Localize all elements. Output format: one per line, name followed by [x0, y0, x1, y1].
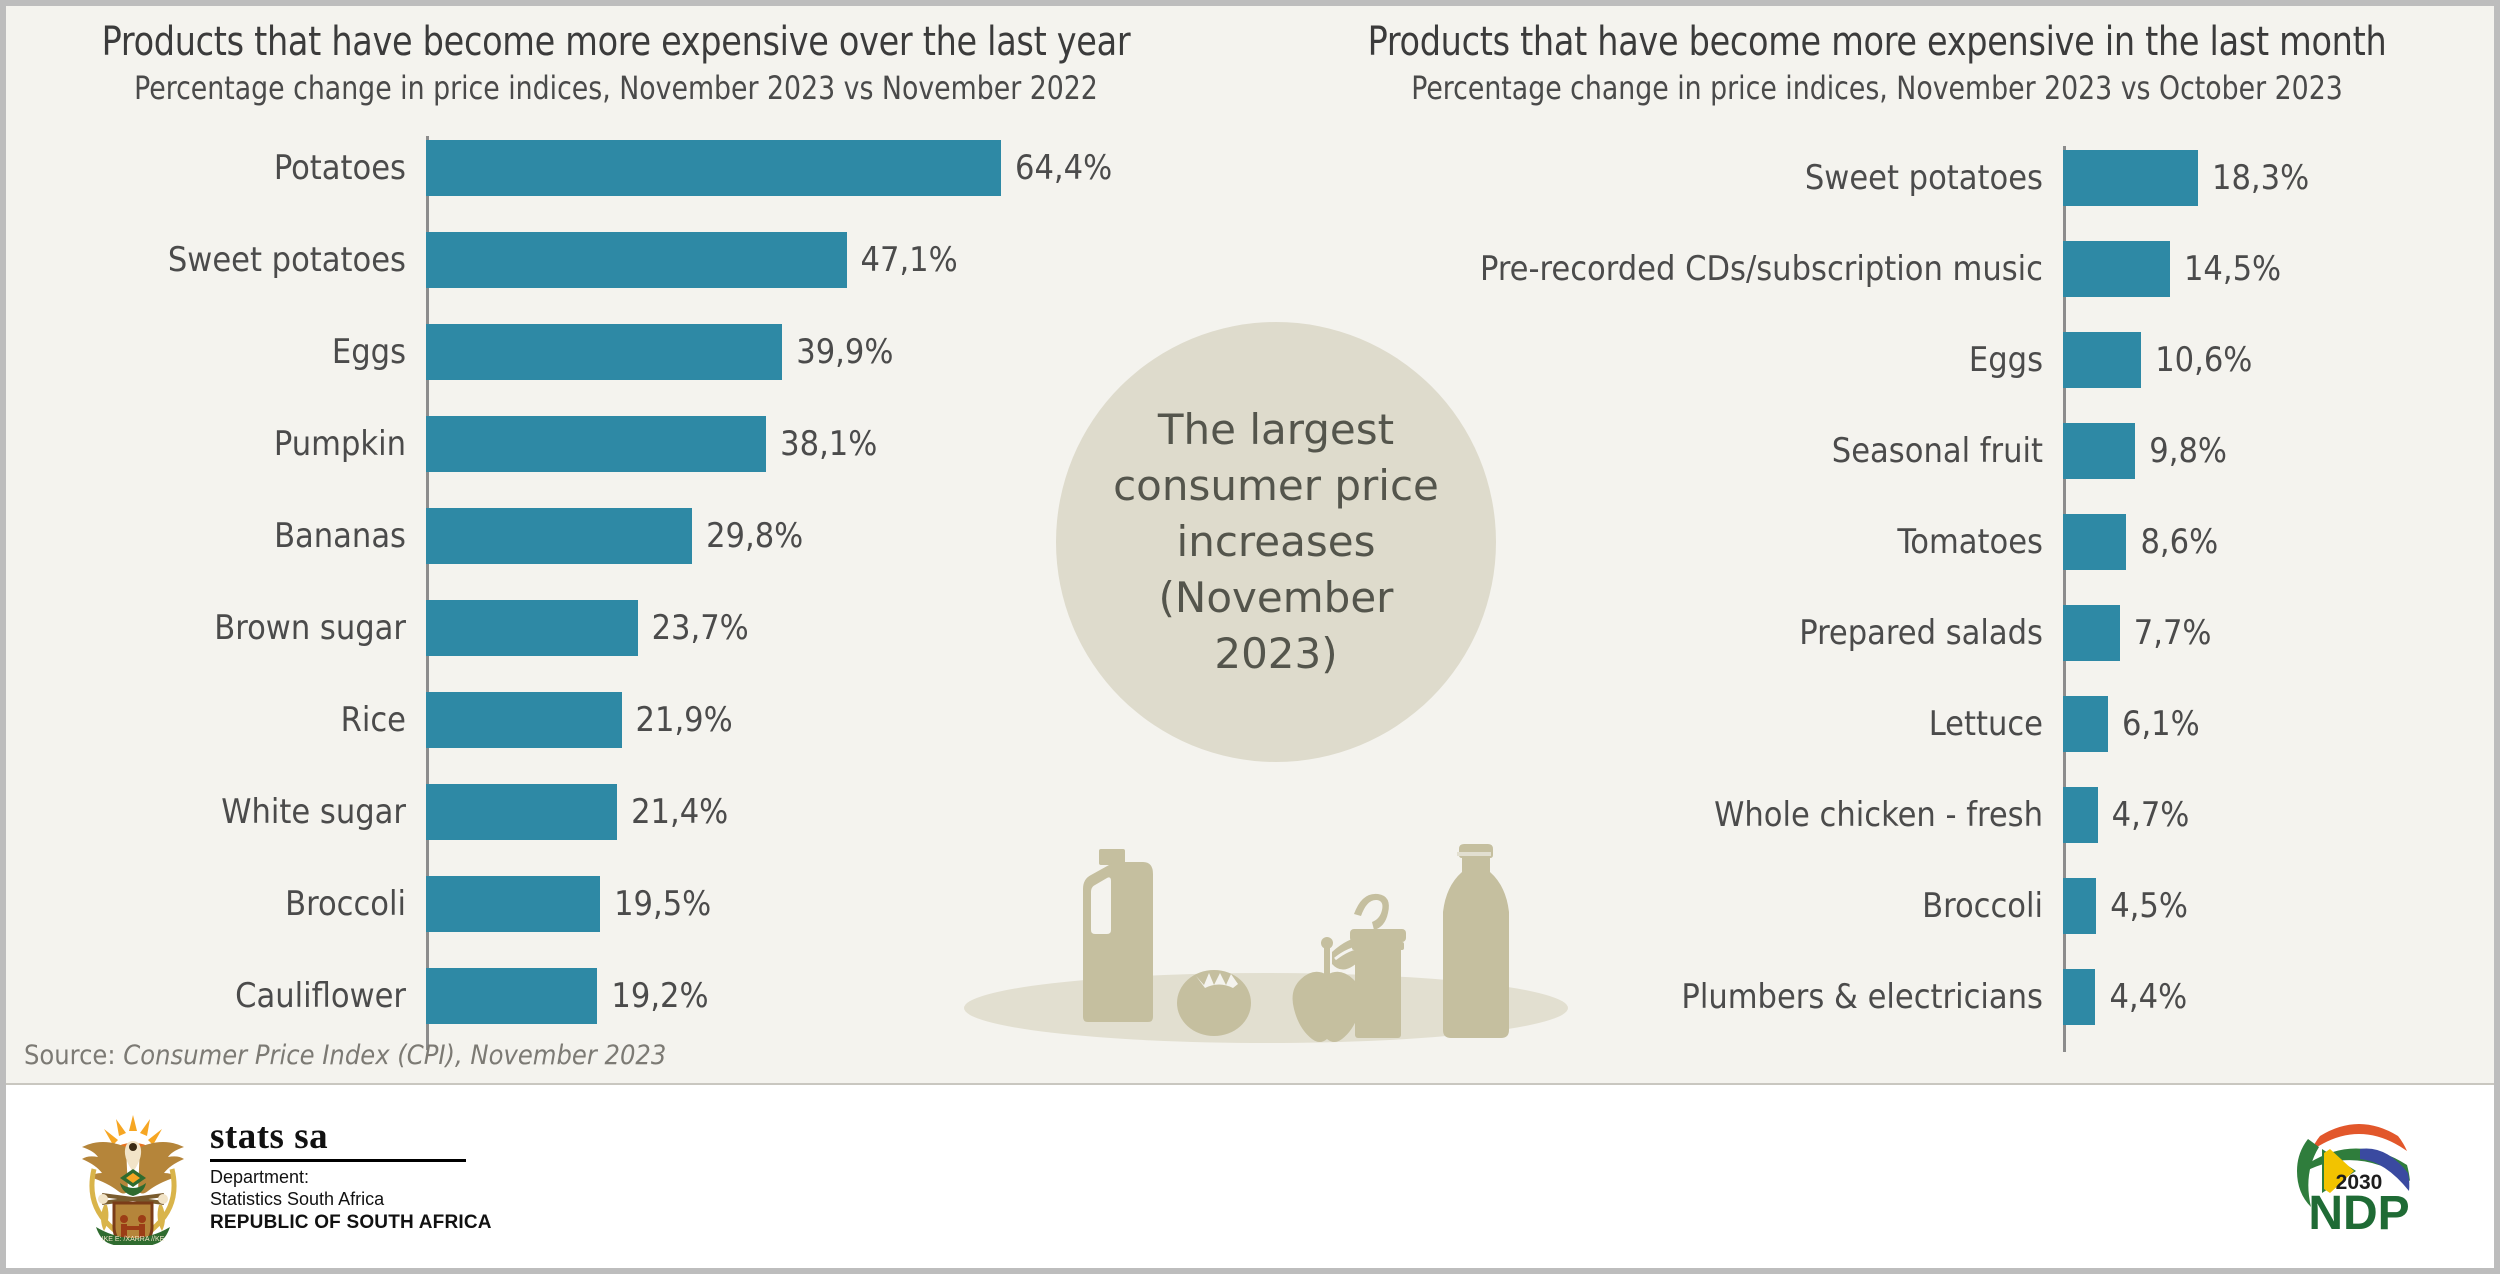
centre-line-2: consumer price	[1094, 458, 1458, 514]
infographic-poster: Products that have become more expensive…	[0, 0, 2500, 1274]
statssa-wordmark: stats sa Department: Statistics South Af…	[210, 1118, 492, 1234]
bar	[426, 232, 847, 288]
statssa-republic-line: REPUBLIC OF SOUTH AFRICA	[210, 1211, 492, 1234]
source-note: Source: Consumer Price Index (CPI), Nove…	[24, 1040, 666, 1071]
source-prefix: Source:	[24, 1040, 116, 1071]
bar-category-label: Broccoli	[285, 884, 406, 924]
bar-category-label: White sugar	[221, 792, 406, 832]
statssa-name: stats sa	[210, 1118, 492, 1155]
statssa-logo: !KE E: /XARRA //KE stats sa Department: …	[74, 1107, 492, 1245]
bar-value-label: 29,8%	[706, 516, 803, 556]
bar	[2063, 150, 2198, 206]
bar-value-label: 7,7%	[2134, 613, 2212, 653]
bar-value-label: 8,6%	[2140, 522, 2218, 562]
bar-value-label: 23,7%	[652, 608, 749, 648]
bar-category-label: Eggs	[332, 332, 406, 372]
statssa-department-line-1: Department:	[210, 1167, 492, 1189]
bar-category-label: Prepared salads	[1799, 613, 2043, 653]
bar-value-label: 19,5%	[614, 884, 711, 924]
tomato-icon	[1177, 970, 1251, 1036]
chart-area: Products that have become more expensive…	[6, 6, 2494, 1085]
bar	[2063, 878, 2096, 934]
bar-category-label: Sweet potatoes	[168, 240, 406, 280]
bar-value-label: 4,7%	[2112, 795, 2190, 835]
bar-value-label: 38,1%	[780, 424, 877, 464]
bar-value-label: 4,5%	[2110, 886, 2188, 926]
footer-bar: !KE E: /XARRA //KE stats sa Department: …	[6, 1085, 2494, 1268]
centre-line-1: The largest	[1094, 402, 1458, 458]
bar	[2063, 787, 2098, 843]
bar	[2063, 241, 2170, 297]
bar-row: Lettuce6,1%	[1250, 696, 2494, 752]
bar	[426, 140, 1001, 196]
bar-category-label: Whole chicken - fresh	[1714, 795, 2043, 835]
bar-row: Potatoes64,4%	[6, 140, 1250, 196]
bar-category-label: Eggs	[1969, 340, 2043, 380]
bar-category-label: Pumpkin	[274, 424, 406, 464]
bar-value-label: 10,6%	[2155, 340, 2252, 380]
source-citation: Consumer Price Index (CPI), November 202…	[123, 1040, 666, 1071]
bar-row: Sweet potatoes18,3%	[1250, 150, 2494, 206]
bar	[426, 324, 782, 380]
bar-category-label: Sweet potatoes	[1805, 158, 2043, 198]
bar-value-label: 18,3%	[2212, 158, 2309, 198]
bar-row: Sweet potatoes47,1%	[6, 232, 1250, 288]
bar	[426, 692, 622, 748]
bar	[426, 600, 638, 656]
bar-row: Pre-recorded CDs/subscription music14,5%	[1250, 241, 2494, 297]
bar-row: Eggs10,6%	[1250, 332, 2494, 388]
bar-value-label: 21,9%	[636, 700, 733, 740]
bar-value-label: 9,8%	[2149, 431, 2227, 471]
bar	[2063, 969, 2095, 1025]
ndp-2030-logo-icon: 2030 NDP	[2284, 1113, 2434, 1237]
grocery-illustration	[946, 826, 1586, 1066]
bar-value-label: 4,4%	[2109, 977, 2187, 1017]
bar	[426, 968, 597, 1024]
svg-text:!KE E: /XARRA //KE: !KE E: /XARRA //KE	[102, 1236, 165, 1243]
bar-category-label: Cauliflower	[235, 976, 406, 1016]
bar-value-label: 6,1%	[2122, 704, 2200, 744]
bar	[2063, 332, 2141, 388]
bar-value-label: 39,9%	[796, 332, 893, 372]
bar-category-label: Broccoli	[1922, 886, 2043, 926]
bar	[426, 784, 617, 840]
centre-line-3: increases	[1094, 514, 1458, 570]
centre-callout-text: The largest consumer price increases (No…	[1056, 402, 1496, 681]
bar-value-label: 47,1%	[861, 240, 958, 280]
centre-line-4: (November 2023)	[1094, 570, 1458, 682]
milk-jug-icon	[1083, 849, 1153, 1022]
bar	[426, 416, 766, 472]
bar-category-label: Pre-recorded CDs/subscription music	[1480, 249, 2043, 289]
bar-value-label: 19,2%	[611, 976, 708, 1016]
bar-value-label: 64,4%	[1015, 148, 1112, 188]
bar-row: Rice21,9%	[6, 692, 1250, 748]
centre-callout-circle: The largest consumer price increases (No…	[1056, 322, 1496, 762]
bar	[2063, 605, 2120, 661]
south-africa-coat-of-arms-icon: !KE E: /XARRA //KE	[74, 1107, 192, 1245]
bar-category-label: Brown sugar	[214, 608, 406, 648]
bottle-icon	[1443, 844, 1509, 1038]
statssa-divider	[210, 1159, 466, 1162]
bar-row: Eggs39,9%	[6, 324, 1250, 380]
bar-value-label: 14,5%	[2184, 249, 2281, 289]
bar-category-label: Lettuce	[1929, 704, 2043, 744]
can-icon	[1350, 894, 1406, 1038]
bar-category-label: Tomatoes	[1897, 522, 2043, 562]
bar-value-label: 21,4%	[631, 792, 728, 832]
statssa-department-line-2: Statistics South Africa	[210, 1189, 492, 1211]
bar-category-label: Plumbers & electricians	[1681, 977, 2043, 1017]
bar-category-label: Potatoes	[274, 148, 406, 188]
bar-category-label: Seasonal fruit	[1832, 431, 2043, 471]
bar	[426, 508, 692, 564]
bar	[2063, 514, 2126, 570]
bar-category-label: Bananas	[274, 516, 406, 556]
ndp-acronym-label: NDP	[2308, 1187, 2409, 1237]
bar	[2063, 696, 2108, 752]
bar	[2063, 423, 2135, 479]
bar	[426, 876, 600, 932]
bar-category-label: Rice	[341, 700, 406, 740]
